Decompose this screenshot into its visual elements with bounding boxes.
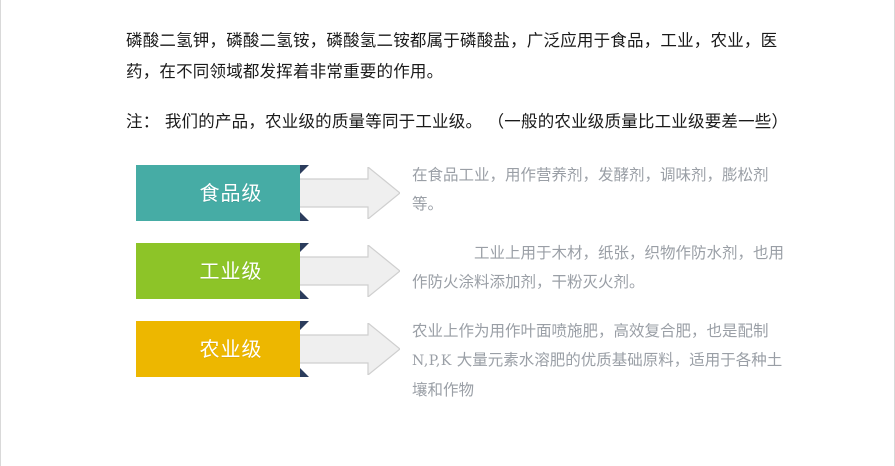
grade-row-agricultural: 农业级 农业上作为用作叶面喷施肥，高效复合肥，也是配制N,P,K 大量元素水溶肥…: [126, 321, 786, 377]
grade-label-industrial: 工业级: [200, 261, 263, 281]
grade-description-agricultural-formula: N,P,K: [412, 353, 452, 369]
grade-block-agricultural: 农业级: [136, 321, 300, 377]
grade-description-agricultural-prefix: 农业上作为用作叶面喷施肥，高效复合肥，也是配制: [412, 322, 769, 340]
arrow-shape-agricultural: [296, 323, 400, 375]
grade-row-food: 食品级 在食品工业，用作营养剂，发酵剂，调味剂，膨松剂等。: [126, 165, 786, 221]
grade-list: 食品级 在食品工业，用作营养剂，发酵剂，调味剂，膨松剂等。 工业级: [126, 165, 786, 377]
note-paragraph: 注： 我们的产品，农业级的质量等同于工业级。 （一般的农业级质量比工业级要差一些…: [126, 106, 786, 137]
grade-description-agricultural: 农业上作为用作叶面喷施肥，高效复合肥，也是配制N,P,K 大量元素水溶肥的优质基…: [412, 317, 784, 405]
intro-paragraph: 磷酸二氢钾，磷酸二氢铵，磷酸氢二铵都属于磷酸盐，广泛应用于食品，工业，农业，医药…: [126, 25, 786, 87]
grade-block-industrial: 工业级: [136, 243, 300, 299]
grade-row-industrial: 工业级 工业上用于木材，纸张，织物作防水剂，也用作防火涂料添加剂，干粉灭火剂。: [126, 243, 786, 299]
arrow-shape-industrial: [296, 245, 400, 297]
grade-label-agricultural: 农业级: [200, 339, 263, 359]
grade-description-agricultural-suffix: 大量元素水溶肥的优质基础原料，适用于各种土壤和作物: [412, 351, 782, 399]
grade-label-food: 食品级: [200, 183, 263, 203]
grade-block-food: 食品级: [136, 165, 300, 221]
document-content: 磷酸二氢钾，磷酸二氢铵，磷酸氢二铵都属于磷酸盐，广泛应用于食品，工业，农业，医药…: [126, 0, 786, 377]
page-left-border: [0, 0, 1, 466]
grade-description-industrial: 工业上用于木材，纸张，织物作防水剂，也用作防火涂料添加剂，干粉灭火剂。: [412, 239, 784, 297]
arrow-shape-food: [296, 167, 400, 219]
grade-description-food: 在食品工业，用作营养剂，发酵剂，调味剂，膨松剂等。: [412, 161, 784, 219]
